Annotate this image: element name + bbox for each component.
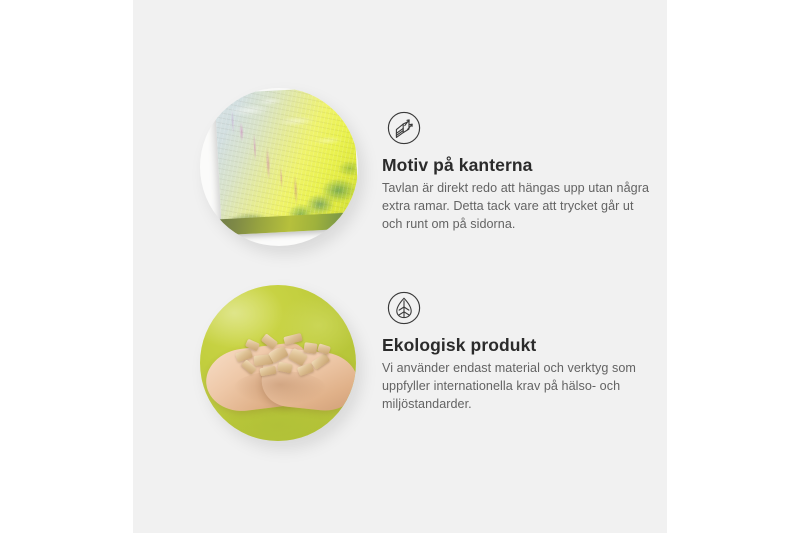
feature-text-ekologisk-produkt: Ekologisk produkt Vi använder endast mat…: [382, 335, 652, 414]
leaf-icon: [383, 287, 425, 329]
product-feature-banner: Motiv på kanterna Tavlan är direkt redo …: [0, 0, 800, 533]
canvas-print-corner-photo: [200, 88, 358, 246]
feature-body: Tavlan är direkt redo att hängas upp uta…: [382, 180, 652, 234]
hands-holding-wood-chips-photo: [200, 285, 356, 441]
wood-chips: [232, 329, 332, 387]
feature-body: Vi använder endast material och verktyg …: [382, 360, 652, 414]
canvas-wrap-edge-icon: [383, 107, 425, 149]
feature-title: Motiv på kanterna: [382, 155, 652, 177]
content-panel: [133, 0, 667, 533]
canvas-artwork: [215, 88, 358, 226]
feature-title: Ekologisk produkt: [382, 335, 652, 357]
feature-text-motiv-pa-kanterna: Motiv på kanterna Tavlan är direkt redo …: [382, 155, 652, 234]
